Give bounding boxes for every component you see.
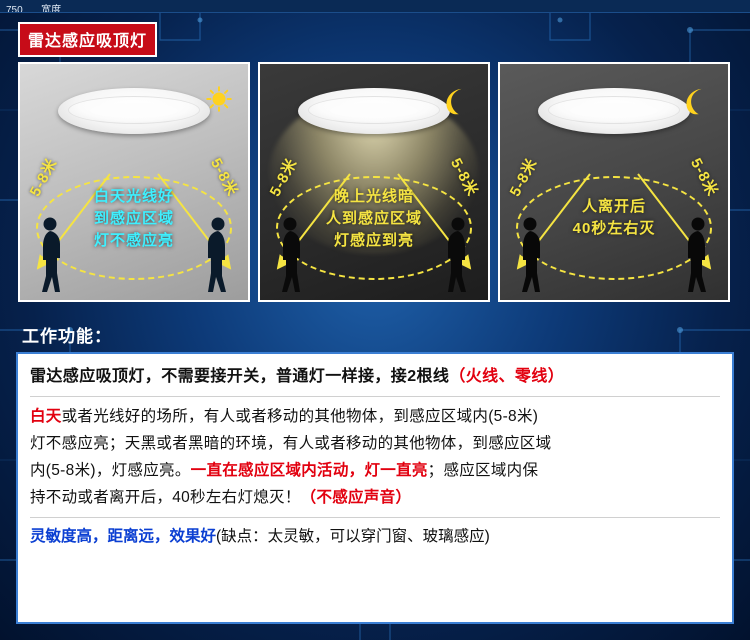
work-function-heading: 工作功能： [22,322,112,347]
caption-line: 人离开后 [500,196,728,218]
photo-strip: 5-8米 5-8米 白天光线好 到感应区域 灯不感应亮 [18,62,732,302]
panel-after-leaving: 5-8米 5-8米 人离开后 40秒左右灭 [498,62,730,302]
advantage-line: 灵敏度高，距离远，效果好(缺点：太灵敏，可以穿门窗、玻璃感应) [30,524,720,550]
always-on-keyword: 一直在感应区域内活动，灯一直亮 [191,462,428,479]
panel-caption-after-leaving: 人离开后 40秒左右灭 [500,196,728,240]
caption-line: 灯感应到亮 [260,230,488,252]
ruler-width-label: 宽度 [27,5,61,13]
behavior-text-4: ；感应区域内保 [428,462,539,479]
wiring-line: 雷达感应吸顶灯，不需要接开关，普通灯一样接，接2根线（火线、零线） [30,364,720,390]
caption-line: 灯不感应亮 [20,230,248,252]
description-textbox: 雷达感应吸顶灯，不需要接开关，普通灯一样接，接2根线（火线、零线） 白天或者光线… [16,352,734,624]
caption-line: 到感应区域 [20,208,248,230]
distance-label-right: 5-8米 [686,154,724,200]
behavior-text-2: 灯不感应亮；天黑或者黑暗的环境，有人或者移动的其他物体，到感应区域 [30,435,551,452]
behavior-paragraph: 白天或者光线好的场所，有人或者移动的其他物体，到感应区域内(5-8米) 灯不感应… [30,403,720,511]
behavior-text-1: 或者光线好的场所，有人或者移动的其他物体，到感应区域内(5-8米) [62,408,539,425]
daytime-keyword: 白天 [30,408,62,425]
panel-caption-daytime: 白天光线好 到感应区域 灯不感应亮 [20,186,248,252]
top-ruler-bar: 750 宽度 [0,0,750,13]
product-title-tag: 雷达感应吸顶灯 [18,22,157,57]
panel-caption-night-on: 晚上光线暗 人到感应区域 灯感应到亮 [260,186,488,252]
caption-line: 白天光线好 [20,186,248,208]
caption-line: 晚上光线暗 [260,186,488,208]
moon-icon [680,86,710,116]
wiring-text: 雷达感应吸顶灯，不需要接开关，普通灯一样接，接2根线 [30,368,449,385]
behavior-text-3: 内(5-8米)，灯感应亮。 [30,462,191,479]
panel-daytime: 5-8米 5-8米 白天光线好 到感应区域 灯不感应亮 [18,62,250,302]
divider [30,517,720,518]
behavior-text-5: 持不动或者离开后，40秒左右灯熄灭！ [30,489,301,506]
distance-label-left: 5-8米 [504,154,542,200]
ceiling-lamp-icon [58,88,210,134]
caption-line: 人到感应区域 [260,208,488,230]
no-sound-note: （不感应声音） [301,489,412,506]
ceiling-lamp-icon [298,88,450,134]
panel-night-on: 5-8米 5-8米 晚上光线暗 人到感应区域 灯感应到亮 [258,62,490,302]
sun-icon [206,86,232,112]
advantage-note: (缺点：太灵敏，可以穿门窗、玻璃感应) [216,528,490,545]
divider [30,396,720,397]
caption-line: 40秒左右灭 [500,218,728,240]
wiring-wires: （火线、零线） [449,368,564,385]
ruler-width-value: 750 [0,5,23,13]
ceiling-lamp-icon [538,88,690,134]
moon-icon [440,86,470,116]
advantage-keyword: 灵敏度高，距离远，效果好 [30,528,216,545]
